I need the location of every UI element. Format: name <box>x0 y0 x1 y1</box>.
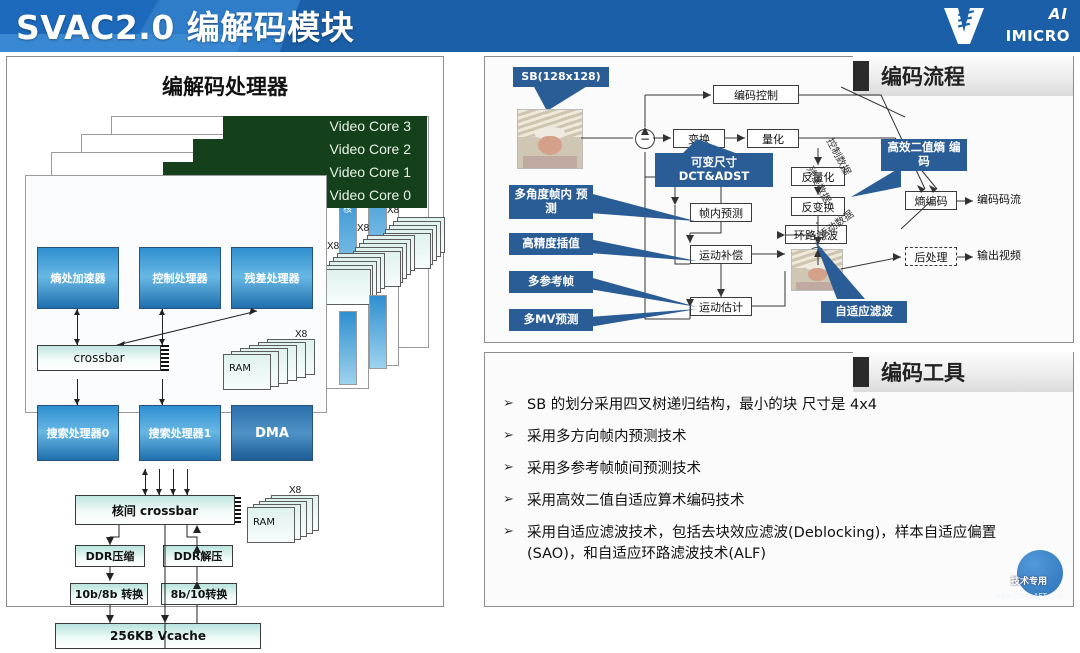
callout-multi-angle-intra-label: 多角度帧内 预测 <box>513 188 589 216</box>
tools-bullet-list: ➢ SB 的划分采用四叉树递归结构，最小的块 尺寸是 4x4 ➢ 采用多方向帧内… <box>503 395 1055 576</box>
logo-brand-text: IMICRO <box>1006 27 1070 45</box>
title-bar: SVAC2.0 编解码模块 AI IMICRO <box>0 0 1080 52</box>
list-item: ➢ 采用自适应滤波技术，包括去块效应滤波(Deblocking)，样本自适应偏置… <box>503 523 1055 565</box>
unit-search-processor-1[interactable]: 搜索处理器1 <box>139 405 221 461</box>
core-sidecol-2b <box>339 311 357 385</box>
bullet-marker-icon: ➢ <box>503 427 527 446</box>
callout-binary-entropy-label: 高效二值熵 编码 <box>885 141 963 169</box>
x8-label-b: X8 <box>357 223 369 234</box>
bus-arrow-1u <box>142 469 148 475</box>
crossbar-port-comb <box>161 345 169 371</box>
logo-ai-text: AI <box>1049 5 1068 23</box>
header-block-icon-tools <box>853 357 869 387</box>
callout-variable-size-dct-label: 可变尺寸 DCT&ADST <box>659 156 769 184</box>
callout-multi-mv-prediction: 多MV预测 <box>509 309 593 331</box>
list-item: ➢ 采用多参考帧帧间预测技术 <box>503 459 1055 480</box>
bullet-text: 采用多方向帧内预测技术 <box>527 427 687 448</box>
crossbar-block: crossbar <box>37 345 161 371</box>
page-title: SVAC2.0 编解码模块 <box>16 1 354 49</box>
callout-high-precision-interp: 高精度插值 <box>509 233 593 255</box>
watermark: 技术专用 www.ChinaAET.com <box>993 548 1065 602</box>
bullet-marker-icon: ➢ <box>503 491 527 510</box>
ram-label-core: RAM <box>229 363 251 374</box>
codec-processor-panel: 编解码处理器 核 核 核 X8 X8 X8 Video Core 3 Video… <box>6 56 444 607</box>
bullet-text: 采用自适应滤波技术，包括去块效应滤波(Deblocking)，样本自适应偏置(S… <box>527 523 997 565</box>
callout-multi-reference-frame: 多参考帧 <box>509 271 593 293</box>
callout-intra-pointer <box>589 193 699 227</box>
lower-datapath-edges <box>47 523 307 653</box>
arrowhead-entropy-up <box>74 309 80 315</box>
callout-entropy-pointer <box>851 167 901 199</box>
bullet-text: 采用高效二值自适应算术编码技术 <box>527 491 745 512</box>
ram-stack-core <box>223 339 315 385</box>
watermark-circle-icon <box>1017 550 1063 596</box>
callout-interp-pointer <box>589 239 699 265</box>
unit-entropy-accelerator[interactable]: 熵处加速器 <box>37 247 119 309</box>
callout-mv-pointer <box>589 303 699 329</box>
bullet-marker-icon: ➢ <box>503 459 527 478</box>
section-header-encoding-tools: 编码工具 <box>853 352 1073 392</box>
video-core-3-bar: Video Core 3 <box>223 116 427 139</box>
core-sidecol-3b <box>369 295 387 369</box>
unit-control-processor[interactable]: 控制处理器 <box>139 247 221 309</box>
inter-crossbar-port-comb <box>235 497 241 523</box>
list-item: ➢ 采用高效二值自适应算术编码技术 <box>503 491 1055 512</box>
encoding-tools-panel: 编码工具 ➢ SB 的划分采用四叉树递归结构，最小的块 尺寸是 4x4 ➢ 采用… <box>484 352 1074 607</box>
callout-multi-angle-intra: 多角度帧内 预测 <box>509 185 593 219</box>
encoding-flow-panel: 编码流程 SB(128x128) − + 编码控制 变换 量化 反量化 反变换 … <box>484 56 1074 343</box>
section-header-label-tools: 编码工具 <box>881 357 965 387</box>
unit-search-processor-0[interactable]: 搜索处理器0 <box>37 405 119 461</box>
bullet-marker-icon: ➢ <box>503 523 527 542</box>
list-item: ➢ 采用多方向帧内预测技术 <box>503 427 1055 448</box>
list-item: ➢ SB 的划分采用四叉树递归结构，最小的块 尺寸是 4x4 <box>503 395 1055 416</box>
panel-title-codec-processor: 编解码处理器 <box>7 71 443 101</box>
bullet-marker-icon: ➢ <box>503 395 527 414</box>
watermark-url-text: www.ChinaAET.com <box>993 592 1065 600</box>
bullet-text: SB 的划分采用四叉树递归结构，最小的块 尺寸是 4x4 <box>527 395 877 416</box>
vimicro-logo: AI IMICRO <box>936 4 1072 48</box>
v-mark-icon <box>942 6 986 46</box>
inter-core-crossbar: 核间 crossbar <box>75 495 235 525</box>
callout-adaptive-pointer <box>815 241 885 305</box>
arrowhead-search1 <box>159 399 165 405</box>
unit-dma[interactable]: DMA <box>231 405 313 461</box>
watermark-cn-text: 技术专用 <box>993 574 1065 587</box>
x8-label-c: X8 <box>327 241 339 252</box>
video-core-2-bar: Video Core 2 <box>193 139 427 162</box>
callout-dct-pointer <box>681 139 751 157</box>
bullet-text: 采用多参考帧帧间预测技术 <box>527 459 701 480</box>
arrowhead-search0 <box>74 399 80 405</box>
callout-variable-size-dct: 可变尺寸 DCT&ADST <box>655 153 773 187</box>
unit-residual-processor[interactable]: 残差处理器 <box>231 247 313 309</box>
